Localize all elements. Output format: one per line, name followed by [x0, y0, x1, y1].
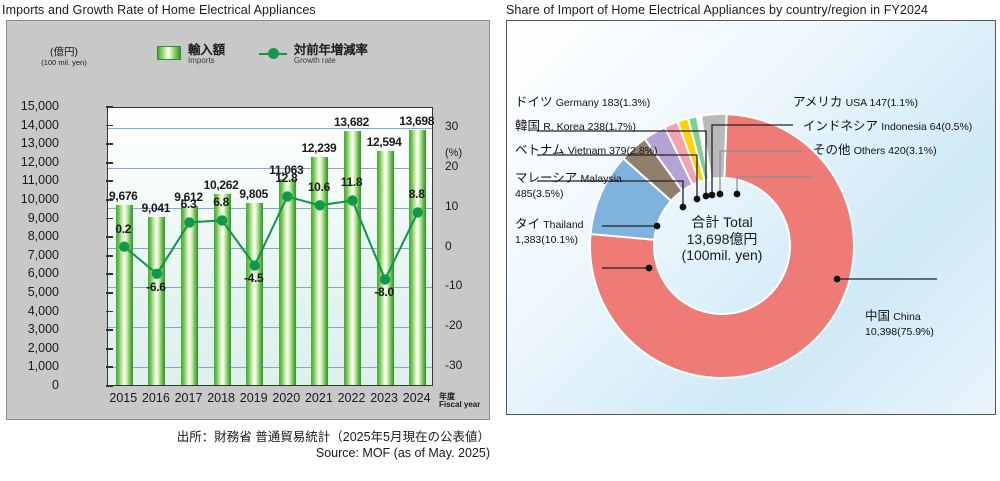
y-axis-unit-jp: (億円): [21, 47, 107, 59]
page-root: Imports and Growth Rate of Home Electric…: [0, 0, 1000, 481]
pie-label-en: Vietnam 379(2.8%): [568, 145, 658, 157]
y-axis-tick-label: 4,000: [0, 304, 59, 318]
data-point: [119, 242, 129, 252]
x-axis-tick-label: 2018: [207, 391, 235, 405]
data-point: [347, 195, 357, 205]
pie-label-jp: ベトナム: [515, 143, 565, 157]
right-source-en: Source: MOF (as of May. 2025): [500, 451, 1000, 467]
y-axis-tick-mark: [106, 385, 113, 387]
pie-label-jp: 中国: [865, 309, 890, 323]
y-axis-tick-mark: [106, 236, 113, 238]
chart-legend: 輸入額 Imports 対前年増減率 Growth rate: [157, 44, 368, 66]
pie-label-jp: アメリカ: [793, 95, 842, 109]
pie-label-jp: マレーシア: [515, 171, 577, 185]
growth-rate-label: 12.8: [275, 171, 297, 185]
y-axis-tick-label: 13,000: [0, 136, 59, 150]
pie-label-jp: 韓国: [515, 119, 540, 133]
y-axis-tick-mark: [106, 180, 113, 182]
growth-rate-label: 6.8: [213, 195, 229, 209]
legend-item-growth-rate: 対前年増減率 Growth rate: [259, 44, 368, 66]
composition-ratio-note: （ ）は構成比 Composition ratio: ( ): [500, 418, 1000, 434]
pie-label-value: 1,383(10.1%): [515, 234, 578, 246]
data-point: [413, 207, 423, 217]
y-axis-tick-mark: [106, 125, 113, 127]
pie-label-jp: インドネシア: [803, 119, 878, 133]
x-axis-tick-label: 2020: [272, 391, 300, 405]
pie-slice-label: タイ Thailand1,383(10.1%): [515, 217, 584, 247]
y-axis-tick-label: 1,000: [0, 359, 59, 373]
data-point: [250, 260, 260, 270]
pie-slice-label: アメリカ USA 147(1.1%): [793, 95, 918, 111]
total-line-3: (100mil. yen): [632, 247, 812, 264]
plot-area: [107, 107, 433, 386]
pie-label-en: Others 420(3.1%): [854, 145, 937, 157]
y-axis-tick-mark: [106, 292, 113, 294]
callout-dot: [717, 191, 724, 198]
pie-label-value: 485(3.5%): [515, 188, 563, 200]
pie-slice-label: インドネシア Indonesia 64(0.5%): [803, 119, 972, 135]
bar-value-label: 9,041: [142, 201, 171, 215]
pie-slice-label: ドイツ Germany 183(1.3%): [515, 95, 650, 111]
y-axis-tick-label: 10,000: [0, 192, 59, 206]
y-axis-tick-label: 9,000: [0, 211, 59, 225]
y-axis-tick-label: 8,000: [0, 229, 59, 243]
y-axis-tick-label: 6,000: [0, 266, 59, 280]
bar-value-label: 12,239: [301, 141, 336, 155]
y-axis-tick-mark: [106, 348, 113, 350]
bar-value-label: 13,698: [399, 114, 434, 128]
x-axis-tick-label: 2022: [338, 391, 366, 405]
pie-slice-label: 中国 China10,398(75.9%): [865, 309, 934, 339]
pie-label-jp: その他: [813, 143, 851, 157]
pie-label-en: USA 147(1.1%): [846, 97, 918, 109]
pie-slice-label: マレーシア Malaysia485(3.5%): [515, 171, 622, 201]
growth-rate-label: 0.2: [115, 222, 131, 236]
y-axis-unit-label: (億円) (100 mil. yen): [21, 47, 107, 67]
left-source-jp: 出所：財務省 普通貿易統計（2025年5月現在の公表値）: [0, 429, 490, 445]
total-line-2: 13,698億円: [632, 231, 812, 248]
pie-slice-label: 韓国 R. Korea 238(1.7%): [515, 119, 636, 135]
secondary-axis-tick-label: 0: [445, 239, 485, 253]
callout-dot: [834, 276, 841, 283]
callout-dot: [709, 192, 716, 199]
callout-dot: [680, 204, 687, 211]
callout-dot: [734, 191, 741, 198]
left-source-en: Source: MOF (as of May. 2025): [0, 445, 490, 461]
y-axis-tick-mark: [106, 311, 113, 313]
y-axis-tick-mark: [106, 162, 113, 164]
y-axis-tick-mark: [106, 329, 113, 331]
right-source-note: （ ）は構成比 Composition ratio: ( ) 出所：財務省 普通…: [500, 418, 1000, 467]
pie-slice-label: その他 Others 420(3.1%): [813, 143, 937, 159]
x-axis-unit-en: Fiscal year: [439, 401, 480, 409]
y-axis-tick-label: 15,000: [0, 99, 59, 113]
y-axis-tick-mark: [106, 273, 113, 275]
callout-dot: [703, 193, 710, 200]
pie-label-jp: ドイツ: [515, 95, 553, 109]
x-axis-unit-label: 年度 Fiscal year: [439, 393, 480, 410]
bar-value-label: 13,682: [334, 115, 369, 129]
pie-label-en: Thailand: [543, 219, 583, 231]
right-chart-title: Share of Import of Home Electrical Appli…: [506, 3, 928, 17]
secondary-axis-unit: (%): [445, 147, 462, 159]
y-axis-tick-label: 14,000: [0, 118, 59, 132]
growth-rate-label: 11.8: [341, 175, 363, 189]
y-axis-tick-label: 12,000: [0, 155, 59, 169]
data-point: [217, 215, 227, 225]
data-point: [315, 200, 325, 210]
callout-dot: [646, 265, 653, 272]
pie-label-en: Indonesia 64(0.5%): [881, 121, 972, 133]
bar-value-label: 10,262: [204, 178, 239, 192]
x-axis-tick-label: 2024: [403, 391, 431, 405]
y-axis-tick-mark: [106, 218, 113, 220]
data-point: [184, 217, 194, 227]
pie-slice-label: ベトナム Vietnam 379(2.8%): [515, 143, 658, 159]
y-axis-tick-mark: [106, 106, 113, 108]
pie-label-jp: タイ: [515, 217, 540, 231]
donut-center-total: 合計 Total 13,698億円 (100mil. yen): [632, 214, 812, 264]
left-chart-title: Imports and Growth Rate of Home Electric…: [2, 3, 316, 17]
bar-value-label: 9,805: [239, 187, 268, 201]
growth-rate-line: [108, 108, 434, 387]
bar-swatch-icon: [157, 46, 181, 60]
y-axis-tick-mark: [106, 366, 113, 368]
x-axis-tick-label: 2017: [175, 391, 203, 405]
bar-value-label: 12,594: [367, 135, 402, 149]
callout-dot: [694, 196, 701, 203]
y-axis-tick-label: 7,000: [0, 248, 59, 262]
pie-label-en: China: [893, 311, 920, 323]
total-line-1: 合計 Total: [632, 214, 812, 231]
secondary-axis-tick-label: 10: [445, 199, 485, 213]
y-axis-tick-label: 11,000: [0, 173, 59, 187]
legend-imports-en: Imports: [188, 57, 225, 65]
x-axis-tick-label: 2023: [370, 391, 398, 405]
left-source-note: 出所：財務省 普通貿易統計（2025年5月現在の公表値） Source: MOF…: [0, 429, 490, 462]
y-axis-tick-label: 5,000: [0, 285, 59, 299]
imports-growth-chart-panel: (億円) (100 mil. yen) 輸入額 Imports 対前年増減率 G…: [6, 20, 490, 420]
pie-label-en: Malaysia: [580, 173, 621, 185]
secondary-axis-tick-label: 30: [445, 119, 485, 133]
pie-label-en: R. Korea 238(1.7%): [543, 121, 636, 133]
data-point: [152, 269, 162, 279]
y-axis-tick-label: 3,000: [0, 322, 59, 336]
y-axis-unit-en: (100 mil. yen): [21, 59, 107, 67]
secondary-axis-tick-label: 20: [445, 159, 485, 173]
growth-rate-label: 10.6: [308, 180, 330, 194]
x-axis-tick-label: 2019: [240, 391, 268, 405]
x-axis-tick-label: 2021: [305, 391, 333, 405]
legend-growth-en: Growth rate: [294, 57, 368, 65]
growth-rate-label: 8.8: [409, 187, 425, 201]
y-axis-tick-mark: [106, 143, 113, 145]
growth-rate-label: -6.6: [146, 280, 165, 294]
pie-label-value: 10,398(75.9%): [865, 326, 934, 338]
secondary-axis-tick-label: -30: [445, 358, 485, 372]
growth-rate-label: -4.5: [244, 271, 263, 285]
data-point: [380, 274, 390, 284]
y-axis-tick-mark: [106, 255, 113, 257]
pie-label-en: Germany 183(1.3%): [556, 97, 651, 109]
country-share-pie-panel: 合計 Total 13,698億円 (100mil. yen) 中国 China…: [506, 20, 996, 415]
x-axis-tick-label: 2015: [109, 391, 137, 405]
x-axis-tick-label: 2016: [142, 391, 170, 405]
legend-item-imports: 輸入額 Imports: [157, 44, 225, 66]
y-axis-tick-label: 2,000: [0, 341, 59, 355]
growth-rate-label: 6.3: [181, 197, 197, 211]
right-source-jp: 出所：財務省 普通貿易統計（2025年5月現在の公表値）: [500, 434, 1000, 450]
data-point: [282, 191, 292, 201]
line-marker-icon: [259, 47, 287, 61]
secondary-axis-tick-label: -10: [445, 278, 485, 292]
bar-value-label: 9,676: [109, 189, 138, 203]
y-axis-tick-label: 0: [0, 378, 59, 392]
growth-rate-label: -8.0: [374, 285, 393, 299]
secondary-axis-tick-label: -20: [445, 318, 485, 332]
